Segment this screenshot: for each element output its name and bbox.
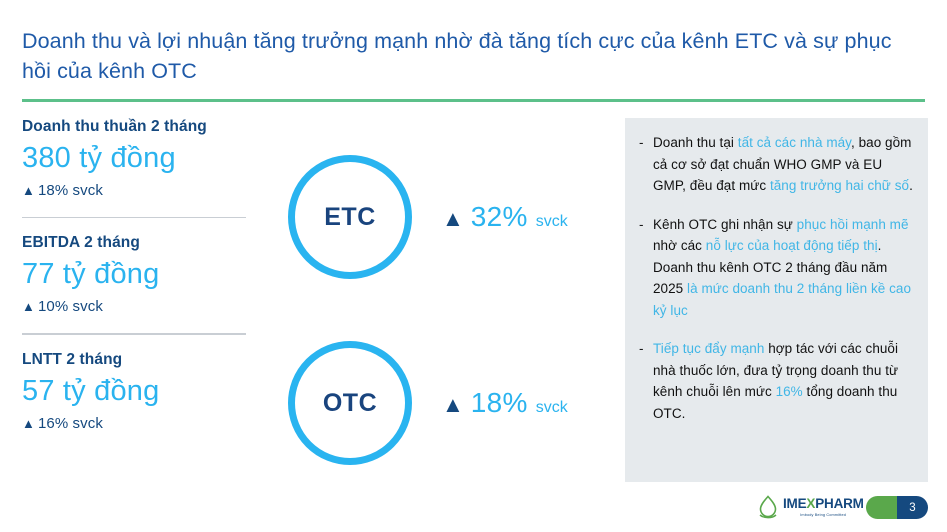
channel-circle-etc: ETC (288, 155, 412, 279)
note-bullet-dash: - (639, 338, 653, 424)
metric-label: EBITDA 2 tháng (22, 234, 272, 252)
channel-circle-label: ETC (324, 203, 376, 232)
highlighted-phrase: Tiếp tục đẩy mạnh (653, 341, 764, 356)
metric-card-lntt: LNTT 2 tháng 57 tỷ đồng ▲16% svck (22, 351, 272, 432)
channel-percent: 18% (471, 387, 528, 419)
metric-value: 57 tỷ đồng (22, 375, 272, 408)
note-text: Tiếp tục đẩy mạnh hợp tác với các chuỗi … (653, 338, 914, 424)
metric-label: LNTT 2 tháng (22, 351, 272, 369)
note-bullet-dash: - (639, 132, 653, 197)
leaf-logo-icon (757, 495, 779, 519)
up-arrow-icon: ▲ (22, 299, 35, 314)
channel-circle-label: OTC (323, 389, 377, 418)
plain-phrase: nhờ các (653, 238, 706, 253)
title-underline-rule (22, 99, 925, 102)
company-logo: IMEXPHARM Imbody Being Committed (757, 495, 864, 519)
plain-phrase: Kênh OTC ghi nhận sự (653, 217, 797, 232)
note-item: - Tiếp tục đẩy mạnh hợp tác với các chuỗ… (639, 338, 914, 424)
plain-phrase: Doanh thu tại (653, 135, 738, 150)
channels-column: ETC ▲ 32% svck OTC ▲ 18% svck (288, 150, 608, 470)
metrics-column: Doanh thu thuần 2 tháng 380 tỷ đồng ▲18%… (22, 118, 272, 432)
metric-delta-text: 10% svck (38, 298, 103, 315)
channel-stat-etc: ▲ 32% svck (442, 201, 568, 233)
channel-circle-otc: OTC (288, 341, 412, 465)
note-item: - Doanh thu tại tất cả các nhà máy, bao … (639, 132, 914, 197)
logo-word: IMEXPHARM (783, 497, 864, 511)
channel-row-etc: ETC ▲ 32% svck (288, 150, 608, 284)
page-number-capsule: 3 (866, 496, 928, 519)
logo-word-post: PHARM (815, 496, 864, 511)
metric-card-revenue: Doanh thu thuần 2 tháng 380 tỷ đồng ▲18%… (22, 118, 272, 199)
note-text: Doanh thu tại tất cả các nhà máy, bao gồ… (653, 132, 914, 197)
up-arrow-icon: ▲ (442, 208, 464, 230)
metric-value: 77 tỷ đồng (22, 258, 272, 291)
metric-label: Doanh thu thuần 2 tháng (22, 118, 272, 136)
logo-word-pre: IME (783, 496, 806, 511)
metric-divider (22, 217, 246, 218)
highlighted-phrase: là mức doanh thu 2 tháng liền kề cao kỷ … (653, 281, 911, 318)
channel-stat-otc: ▲ 18% svck (442, 387, 568, 419)
notes-panel: - Doanh thu tại tất cả các nhà máy, bao … (625, 118, 928, 482)
page-title: Doanh thu và lợi nhuận tăng trưởng mạnh … (22, 26, 922, 86)
channel-row-otc: OTC ▲ 18% svck (288, 336, 608, 470)
metric-divider (22, 333, 246, 334)
metric-delta-text: 16% svck (38, 415, 103, 432)
up-arrow-icon: ▲ (442, 394, 464, 416)
logo-wordmark: IMEXPHARM Imbody Being Committed (783, 497, 864, 517)
metric-delta: ▲16% svck (22, 415, 272, 432)
highlighted-phrase: phục hồi mạnh mẽ (797, 217, 909, 232)
highlighted-phrase: tất cả các nhà máy (738, 135, 851, 150)
highlighted-phrase: nỗ lực của hoạt động tiếp thị (706, 238, 878, 253)
page-number: 3 (897, 496, 928, 519)
up-arrow-icon: ▲ (22, 416, 35, 431)
highlighted-phrase: tăng trưởng hai chữ số (770, 178, 909, 193)
note-item: - Kênh OTC ghi nhận sự phục hồi mạnh mẽ … (639, 214, 914, 322)
metric-card-ebitda: EBITDA 2 tháng 77 tỷ đồng ▲10% svck (22, 234, 272, 315)
metric-delta: ▲10% svck (22, 298, 272, 315)
channel-percent: 32% (471, 201, 528, 233)
capsule-left-half (866, 496, 897, 519)
note-text: Kênh OTC ghi nhận sự phục hồi mạnh mẽ nh… (653, 214, 914, 322)
up-arrow-icon: ▲ (22, 183, 35, 198)
metric-delta: ▲18% svck (22, 182, 272, 199)
metric-delta-text: 18% svck (38, 182, 103, 199)
metric-value: 380 tỷ đồng (22, 142, 272, 175)
plain-phrase: . (909, 178, 913, 193)
channel-percent-suffix: svck (536, 399, 568, 417)
logo-tagline: Imbody Being Committed (800, 512, 846, 517)
note-bullet-dash: - (639, 214, 653, 322)
highlighted-phrase: 16% (776, 384, 803, 399)
channel-percent-suffix: svck (536, 213, 568, 231)
logo-word-x: X (806, 496, 815, 511)
